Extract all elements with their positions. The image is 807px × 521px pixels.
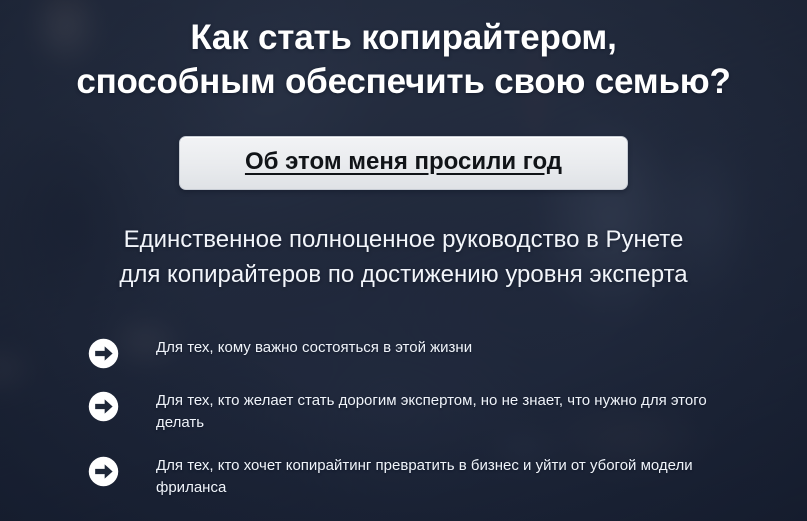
list-item: Для тех, кто желает стать дорогим экспер…	[88, 390, 767, 434]
subheadline-line-1: Единственное полноценное руководство в Р…	[24, 222, 783, 257]
list-item: Для тех, кто хочет копирайтинг превратит…	[88, 455, 767, 499]
cta-container: Об этом меня просили год	[0, 136, 807, 190]
list-item: Для тех, кому важно состояться в этой жи…	[88, 337, 767, 369]
headline-line-2: способным обеспечить свою семью?	[28, 60, 779, 104]
arrow-right-circle-icon	[88, 456, 119, 487]
list-item-label: Для тех, кто желает стать дорогим экспер…	[156, 390, 748, 434]
hero-section: Как стать копирайтером, способным обеспе…	[0, 0, 807, 521]
page-subtitle: Единственное полноценное руководство в Р…	[0, 222, 807, 292]
benefit-list: Для тех, кому важно состояться в этой жи…	[88, 337, 767, 499]
subheadline-line-2: для копирайтеров по достижению уровня эк…	[24, 257, 783, 292]
list-item-label: Для тех, кому важно состояться в этой жи…	[156, 337, 472, 359]
arrow-right-circle-icon	[88, 391, 119, 422]
page-title: Как стать копирайтером, способным обеспе…	[0, 16, 807, 104]
arrow-right-circle-icon	[88, 338, 119, 369]
cta-button[interactable]: Об этом меня просили год	[179, 136, 628, 190]
headline-line-1: Как стать копирайтером,	[28, 16, 779, 60]
hero-content: Как стать копирайтером, способным обеспе…	[0, 0, 807, 521]
list-item-label: Для тех, кто хочет копирайтинг превратит…	[156, 455, 748, 499]
